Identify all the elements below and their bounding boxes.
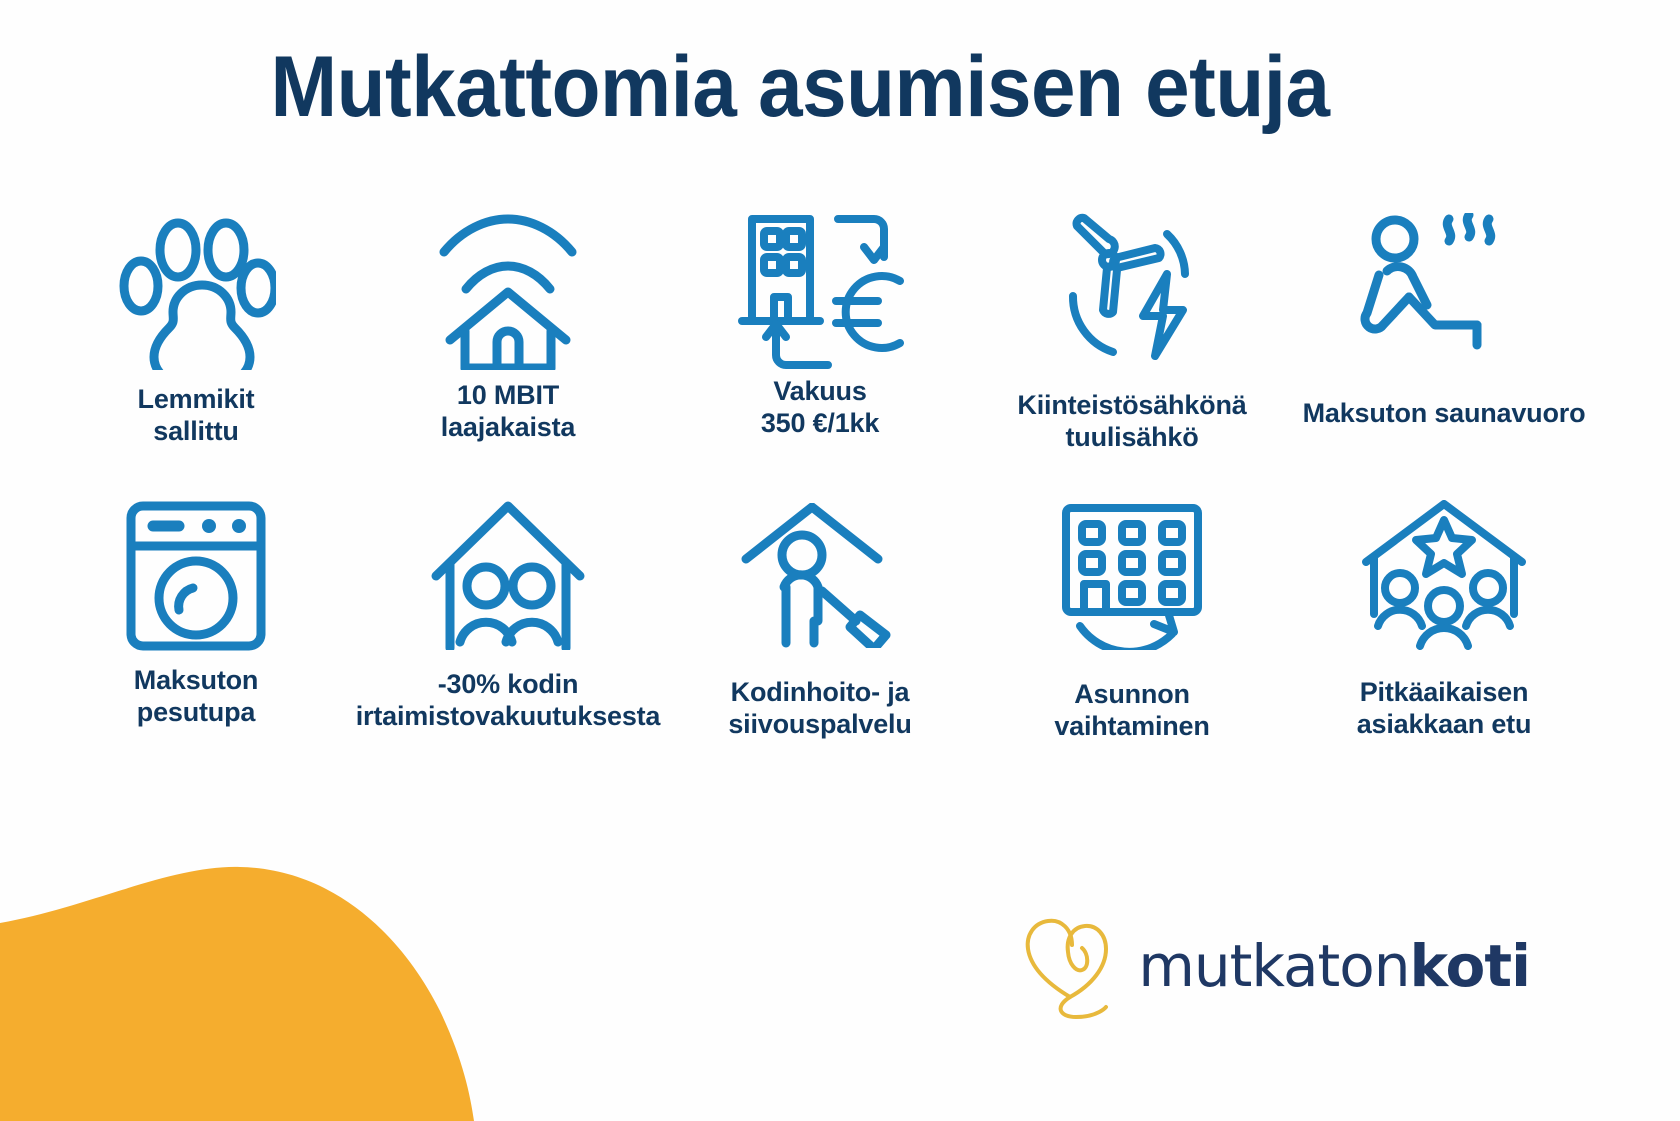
benefit-item-insurance-discount: -30% kodin irtaimistovakuutuksesta: [352, 495, 664, 743]
logo-word-bold: koti: [1410, 932, 1530, 1000]
benefit-label: Vakuus 350 €/1kk: [761, 376, 879, 440]
benefit-label: 10 MBIT laajakaista: [441, 380, 575, 444]
benefit-label: Maksuton pesutupa: [134, 665, 258, 729]
heart-swirl-icon: [1020, 911, 1120, 1021]
benefit-item-free-sauna: Maksuton saunavuoro: [1288, 210, 1600, 454]
benefit-item-deposit: Vakuus 350 €/1kk: [664, 210, 976, 454]
benefit-label: Asunnon vaihtaminen: [1054, 679, 1209, 743]
decorative-orange-shape: [0, 861, 480, 1121]
washing-machine-icon: [121, 495, 271, 655]
logo-wordmark: mutkatonkoti: [1138, 932, 1530, 1000]
wind-turbine-bolt-icon: [1047, 210, 1217, 370]
benefit-item-apartment-swap: Asunnon vaihtaminen: [976, 495, 1288, 743]
benefit-label: -30% kodin irtaimistovakuutuksesta: [356, 669, 661, 733]
benefit-label: Kiinteistösähkönä tuulisähkö: [1017, 390, 1246, 454]
benefits-row-1: Lemmikit sallittu 10 MBIT laajakaista: [40, 210, 1600, 454]
brand-logo: mutkatonkoti: [1020, 911, 1530, 1021]
building-euro-icon: [728, 210, 913, 370]
benefit-item-free-laundry: Maksuton pesutupa: [40, 495, 352, 743]
benefit-item-loyalty: Pitkäaikaisen asiakkaan etu: [1288, 495, 1600, 743]
benefit-item-broadband: 10 MBIT laajakaista: [352, 210, 664, 454]
apartment-swap-icon: [1050, 495, 1215, 655]
wifi-house-icon: [428, 210, 588, 370]
page-title: Mutkattomia asumisen etuja: [56, 38, 1544, 137]
benefit-label: Kodinhoito- ja siivouspalvelu: [728, 677, 911, 741]
benefit-label: Maksuton saunavuoro: [1303, 398, 1586, 430]
house-star-people-icon: [1352, 495, 1537, 655]
benefit-item-cleaning-service: Kodinhoito- ja siivouspalvelu: [664, 495, 976, 743]
house-family-icon: [426, 495, 591, 655]
sauna-person-icon: [1357, 210, 1532, 370]
benefit-item-wind-electricity: Kiinteistösähkönä tuulisähkö: [976, 210, 1288, 454]
benefit-item-pets-allowed: Lemmikit sallittu: [40, 210, 352, 454]
paw-print-icon: [116, 210, 276, 370]
benefit-label: Pitkäaikaisen asiakkaan etu: [1357, 677, 1532, 741]
logo-word-light: mutkaton: [1138, 932, 1409, 1000]
benefits-row-2: Maksuton pesutupa -30% kodin irtaimistov…: [40, 495, 1600, 743]
benefit-label: Lemmikit sallittu: [138, 384, 255, 448]
cleaning-person-icon: [740, 495, 900, 655]
